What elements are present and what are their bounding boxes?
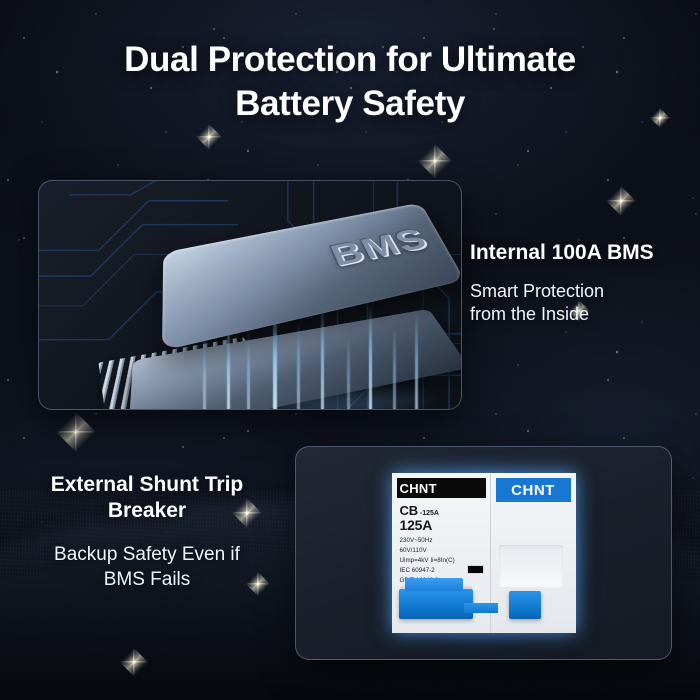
breaker-lever-link-bar xyxy=(464,603,498,613)
feature-external-breaker-subtitle-line1: Backup Safety Even if xyxy=(54,544,240,565)
breaker-spec-item: 230V~50Hz xyxy=(400,536,485,546)
breaker-model-row: CB -125A xyxy=(400,503,485,518)
breaker-right-brand-bar: CHNT xyxy=(496,478,571,502)
breaker-indicator-window xyxy=(467,565,484,574)
poster-canvas: Dual Protection for Ultimate Battery Saf… xyxy=(0,0,700,700)
breaker-left-brand-bar: CHNT xyxy=(397,478,486,498)
page-title-line2: Battery Safety xyxy=(0,82,700,126)
page-title: Dual Protection for Ultimate Battery Saf… xyxy=(0,38,700,126)
breaker-spec-item: 60V/110V xyxy=(400,546,485,556)
breaker-model-prefix: CB xyxy=(400,503,418,518)
chip-bms-label: BMS xyxy=(326,223,436,274)
breaker-left-brand-label: CHNT xyxy=(397,481,437,496)
feature-internal-bms: Internal 100A BMS Smart Protection from … xyxy=(470,240,692,326)
breaker-current-rating: 125A xyxy=(400,517,485,533)
breaker-left-module: CHNT CB -125A 125A 230V~50Hz 60V/110V Ui… xyxy=(392,473,490,633)
bms-chip-illustration: BMS xyxy=(39,181,461,409)
feature-internal-bms-subtitle: Smart Protection from the Inside xyxy=(470,280,692,327)
breaker-main-lever[interactable] xyxy=(399,589,473,619)
feature-internal-bms-subtitle-line1: Smart Protection xyxy=(470,281,604,301)
breaker-model-suffix: -125A xyxy=(420,510,439,517)
page-title-line1: Dual Protection for Ultimate xyxy=(124,40,576,79)
feature-external-breaker-subtitle: Backup Safety Even if BMS Fails xyxy=(8,543,286,592)
feature-external-breaker-subtitle-line2: BMS Fails xyxy=(104,569,191,590)
circuit-breaker-device: CHNT CB -125A 125A 230V~50Hz 60V/110V Ui… xyxy=(392,473,576,633)
feature-external-breaker-title-line2: Breaker xyxy=(108,499,186,522)
feature-external-breaker-title-line1: External Shunt Trip xyxy=(51,473,244,496)
breaker-right-module: CHNT xyxy=(490,473,576,633)
feature-internal-bms-subtitle-line2: from the Inside xyxy=(470,304,589,324)
breaker-right-brand-label: CHNT xyxy=(511,482,555,499)
breaker-shunt-trip-lever[interactable] xyxy=(509,591,541,619)
sparkle-star xyxy=(418,144,452,178)
feature-external-breaker-title: External Shunt Trip Breaker xyxy=(8,472,286,523)
bms-image-card: BMS xyxy=(38,180,462,410)
feature-external-breaker: External Shunt Trip Breaker Backup Safet… xyxy=(8,472,286,593)
breaker-lever-slot-right xyxy=(499,545,563,587)
breaker-image-card: CHNT CB -125A 125A 230V~50Hz 60V/110V Ui… xyxy=(295,446,672,660)
sparkle-star xyxy=(196,124,222,150)
sparkle-star xyxy=(56,412,96,452)
feature-internal-bms-title: Internal 100A BMS xyxy=(470,240,692,266)
sparkle-star xyxy=(606,186,636,216)
